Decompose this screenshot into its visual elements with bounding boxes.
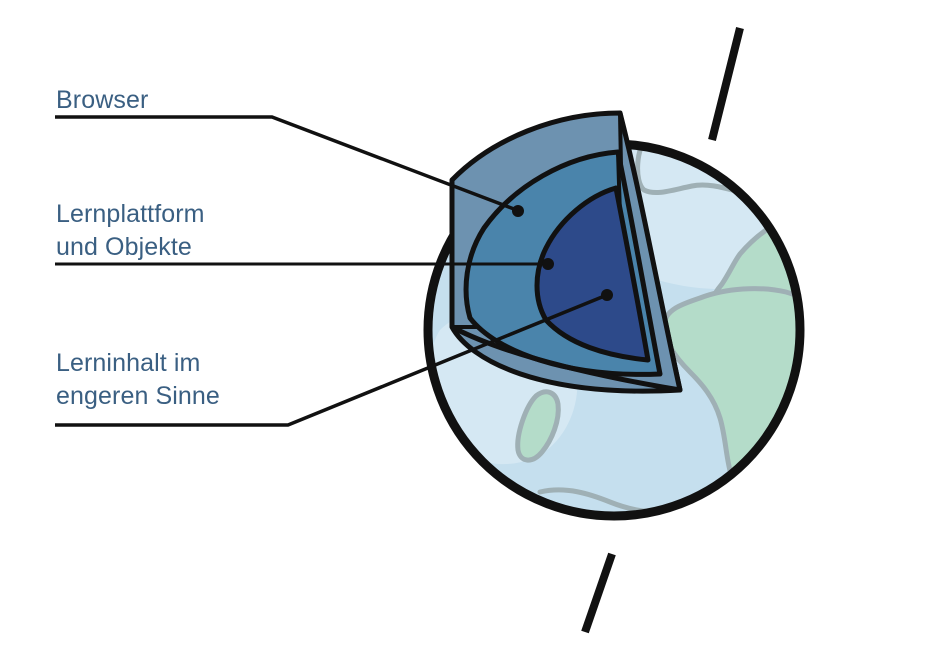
rotation-axis-top [712, 28, 740, 140]
rotation-axis-bottom [585, 554, 612, 632]
label-lerninhalt-line-2[interactable]: engeren Sinne [56, 382, 220, 410]
landmass-southeast-coast [790, 432, 856, 478]
leader-dot-browser [512, 205, 524, 217]
leader-dot-lernplattform [542, 258, 554, 270]
label-lerninhalt-line-1[interactable]: Lerninhalt im [56, 349, 200, 377]
label-lernplattform-line-1[interactable]: Lernplattform [56, 200, 205, 228]
earth-cutaway-diagram: Browser Lernplattform und Objekte Lernin… [0, 0, 944, 656]
diagram-canvas: Browser Lernplattform und Objekte Lernin… [0, 0, 944, 656]
labels-group: Browser Lernplattform und Objekte Lernin… [56, 86, 220, 410]
leader-line-browser [55, 117, 514, 209]
label-lernplattform-line-2[interactable]: und Objekte [56, 233, 192, 261]
landmass-madagascar [830, 406, 876, 471]
leader-dot-lerninhalt [601, 289, 613, 301]
label-browser-line-1[interactable]: Browser [56, 86, 148, 114]
